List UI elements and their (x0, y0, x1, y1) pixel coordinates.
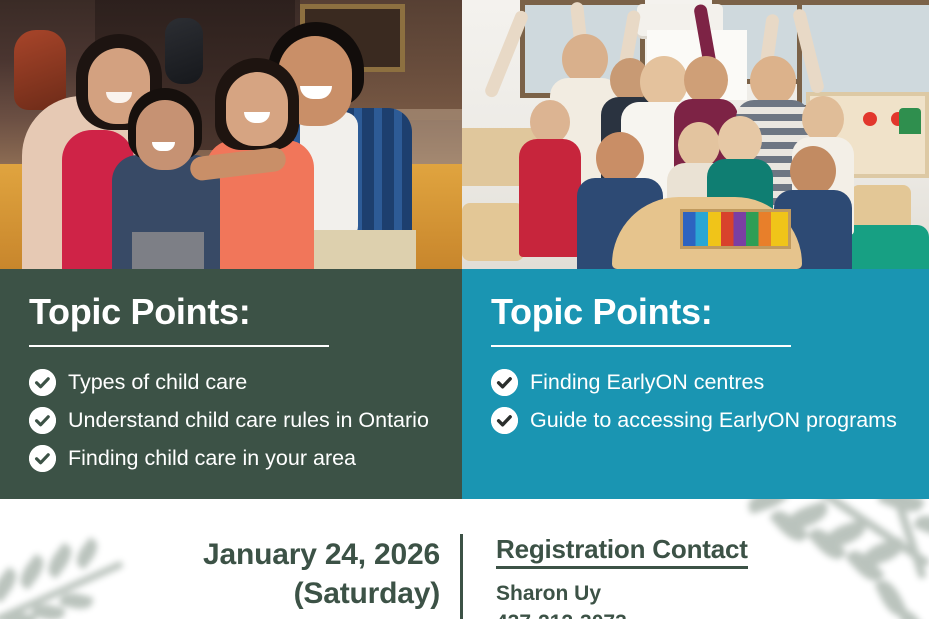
list-item: Types of child care (29, 369, 432, 396)
list-item: Understand child care rules in Ontario (29, 407, 432, 434)
heading-underline (29, 345, 329, 347)
footer-bar: January 24, 2026 (Saturday) Registration… (0, 499, 929, 619)
event-date: January 24, 2026 (Saturday) (0, 535, 440, 613)
list-item: Finding child care in your area (29, 445, 432, 472)
contact-phone: 437-212-3073 (496, 610, 896, 619)
daycare-photo (462, 0, 929, 269)
topic-panel-child-care: Topic Points: Types of child care Unders… (0, 269, 462, 499)
event-date-line1: January 24, 2026 (0, 535, 440, 574)
bullet-text: Finding EarlyON centres (530, 370, 764, 395)
family-photo-scene (0, 0, 462, 269)
photo-band (0, 0, 929, 269)
bullet-text: Finding child care in your area (68, 446, 356, 471)
list-item: Finding EarlyON centres (491, 369, 899, 396)
check-circle-icon (29, 407, 56, 434)
check-circle-icon (491, 407, 518, 434)
registration-contact: Registration Contact Sharon Uy 437-212-3… (496, 535, 896, 619)
vertical-divider (460, 534, 463, 619)
event-flyer: Topic Points: Types of child care Unders… (0, 0, 929, 619)
bullet-text: Guide to accessing EarlyON programs (530, 408, 897, 433)
check-circle-icon (29, 445, 56, 472)
topic-panels: Topic Points: Types of child care Unders… (0, 269, 929, 499)
check-circle-icon (491, 369, 518, 396)
panel-heading-child-care: Topic Points: (29, 293, 432, 331)
contact-name: Sharon Uy (496, 581, 896, 606)
topic-panel-earlyon: Topic Points: Finding EarlyON centres Gu… (462, 269, 929, 499)
bullet-text: Types of child care (68, 370, 247, 395)
bullet-list-child-care: Types of child care Understand child car… (29, 369, 432, 472)
heading-underline (491, 345, 791, 347)
panel-heading-earlyon: Topic Points: (491, 293, 899, 331)
event-date-line2: (Saturday) (0, 574, 440, 613)
family-photo (0, 0, 462, 269)
daycare-photo-scene (462, 0, 929, 269)
contact-title: Registration Contact (496, 535, 748, 569)
bullet-text: Understand child care rules in Ontario (68, 408, 429, 433)
list-item: Guide to accessing EarlyON programs (491, 407, 899, 434)
check-circle-icon (29, 369, 56, 396)
bullet-list-earlyon: Finding EarlyON centres Guide to accessi… (491, 369, 899, 434)
